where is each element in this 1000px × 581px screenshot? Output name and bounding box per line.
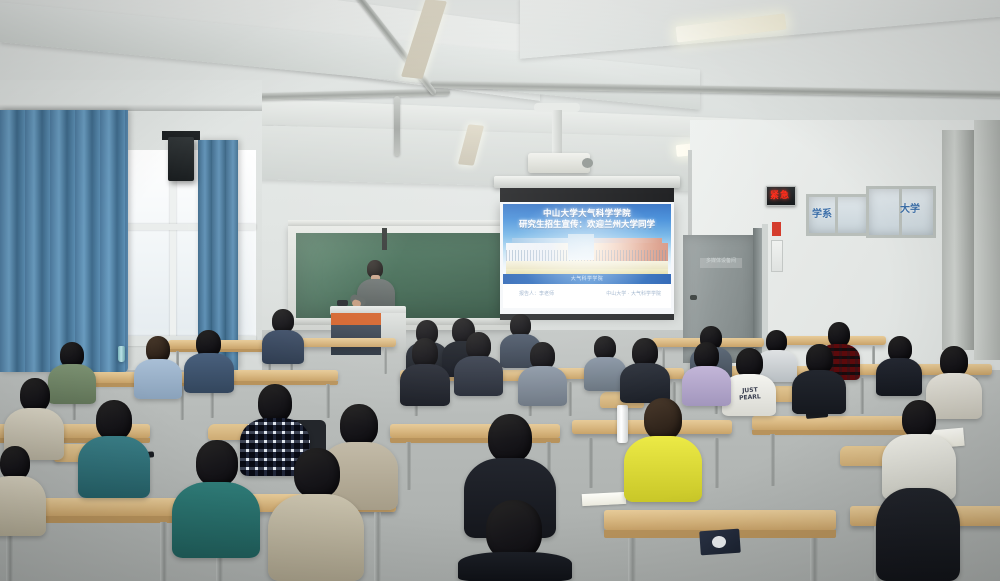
lectern-microphone-icon: [337, 300, 348, 306]
window-curtain-left: [0, 110, 128, 372]
vertical-duct: [974, 120, 1000, 360]
door-handle-icon[interactable]: [690, 295, 697, 300]
led-display-text: 紧急: [766, 188, 794, 201]
door-sign-label: 多媒体设备间: [700, 257, 742, 264]
projector-lens-icon: [582, 158, 593, 168]
ceiling-projector: [528, 153, 590, 173]
slide-glare: [503, 204, 671, 308]
lectern-console: [381, 313, 406, 353]
wall-speaker-left-icon: [168, 137, 194, 181]
sprinkler-riser: [394, 96, 400, 156]
lectern-accent-band: [331, 313, 381, 325]
vertical-duct: [942, 130, 978, 350]
water-bottle: [118, 346, 125, 362]
notebook: [582, 492, 627, 506]
presentation-slide: 中山大学大气科学学院 研究生招生宣传：欢迎兰州大学同学 大气科学学院 报告人：李…: [503, 204, 671, 308]
wall-notice-sheet: [771, 240, 783, 272]
chalkboard-glare: [296, 233, 516, 319]
classroom-photo: 中山大学大气科学学院 研究生招生宣传：欢迎兰州大学同学 大气科学学院 报告人：李…: [0, 0, 1000, 581]
chalk-tray: [292, 318, 522, 325]
red-wall-notice-icon: [772, 222, 781, 236]
screen-roller-casing: [494, 176, 680, 188]
thermos-bottle: [617, 405, 628, 443]
projector-mount-pole: [552, 110, 562, 156]
board-clip-icon: [382, 228, 387, 250]
corridor-window-text-right: 大学: [900, 200, 920, 215]
corridor-window-text-left: 学系: [812, 205, 832, 220]
